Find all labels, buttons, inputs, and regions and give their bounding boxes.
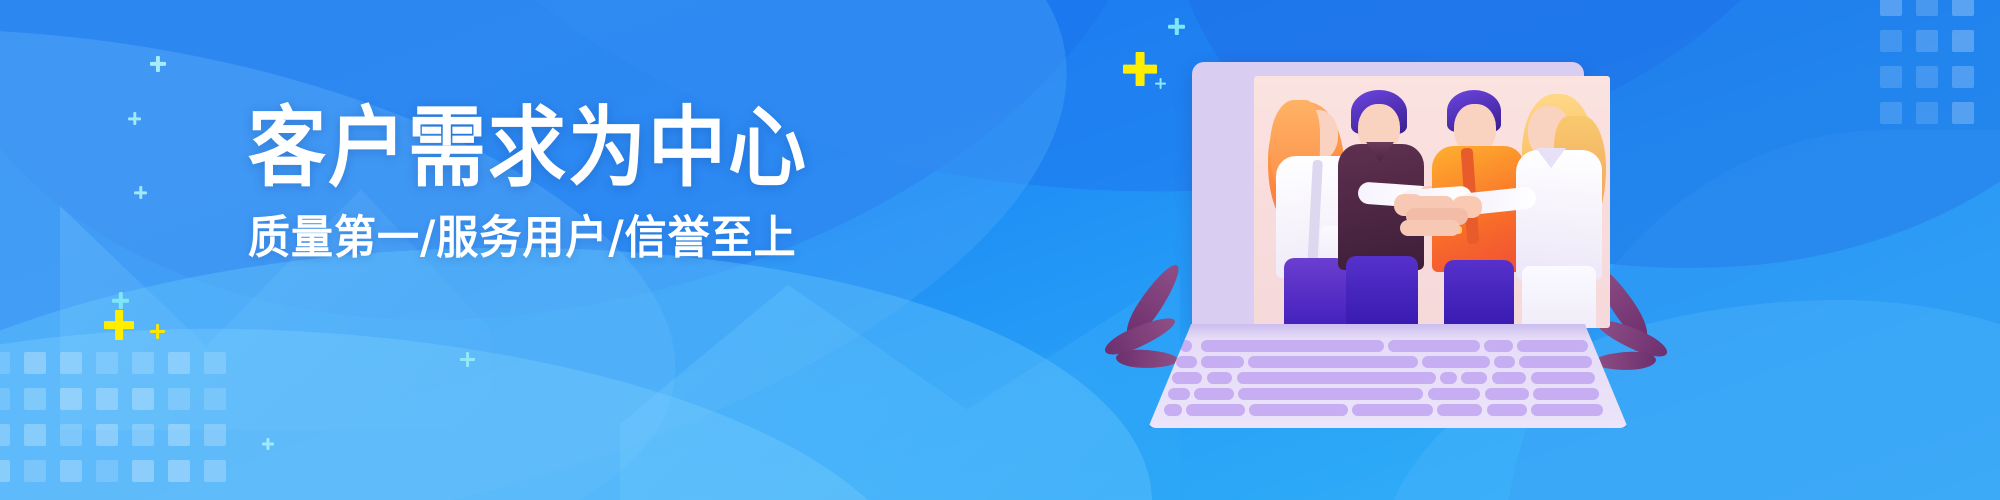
keyboard-key [1492,372,1527,384]
dot-grid-bottom-left-cell [60,388,82,410]
dot-grid-top-right-cell [1952,30,1974,52]
keyboard-key [1176,356,1197,368]
keyboard-key [1237,372,1436,384]
dot-grid-bottom-left-cell [24,388,46,410]
dot-grid-bottom-left-cell [96,424,118,446]
dot-grid-top-right-cell [1952,0,1974,16]
dot-grid-bottom-left-cell [24,424,46,446]
dot-grid-bottom-left-cell [168,424,190,446]
keyboard-key [1494,356,1515,368]
wave-chevron-center [620,250,1180,500]
keyboard-key [1484,340,1513,352]
person-2-pants [1346,256,1418,328]
laptop-teamwork-illustration [1148,62,1628,442]
dot-grid-bottom-left-cell [132,352,154,374]
dot-grid-top-right-cell [1880,102,1902,124]
plus-yellow-small-bottomleft-icon [150,324,165,339]
keyboard-key [1207,372,1233,384]
leaf-left-3 [1116,349,1179,369]
keyboard-key [1533,388,1599,400]
dot-grid-bottom-left-cell [0,352,10,374]
keyboard-key [1180,340,1192,352]
dot-grid-bottom-left-cell [96,460,118,482]
keyboard-key [1517,340,1588,352]
dot-grid-bottom-left-cell [168,460,190,482]
dot-grid-bottom-left-cell [96,388,118,410]
dot-grid-top-right-cell [1952,102,1974,124]
promo-banner: 客户需求为中心 质量第一/服务用户/信誉至上 [0,0,2000,500]
keyboard-key [1428,388,1481,400]
keyboard-key [1248,356,1418,368]
keyboard-key [1531,372,1596,384]
wave-bottom-light-2 [0,307,926,500]
plus-cyan-center-bottom-icon [460,352,475,367]
person-4-skirt [1522,266,1596,328]
dot-grid-bottom-left-cell [96,352,118,374]
keyboard-key [1531,404,1603,416]
keyboard-key [1352,404,1433,416]
dot-grid-bottom-left-cell [60,424,82,446]
keyboard-key [1461,372,1487,384]
dot-grid-top-right-cell [1916,102,1938,124]
plus-yellow-large-bottomleft-icon [104,310,134,340]
dot-grid-bottom-left-cell [204,460,226,482]
plus-cyan-left-upper-icon [150,56,166,72]
dot-grid-top-right [1880,0,2000,114]
dot-grid-top-right-cell [1880,66,1902,88]
person-3-pants [1444,260,1514,328]
dot-grid-top-right-cell [1880,0,1902,16]
banner-text-block: 客户需求为中心 质量第一/服务用户/信誉至上 [248,104,808,258]
dot-grid-bottom-left-cell [24,352,46,374]
keyboard-key [1201,340,1384,352]
dot-grid-top-right-cell [1916,0,1938,16]
keyboard-key [1168,388,1190,400]
dot-grid-bottom-left-cell [24,460,46,482]
plus-cyan-left-lower-icon [134,186,147,199]
dot-grid-bottom-left-cell [168,352,190,374]
keyboard-key [1487,404,1527,416]
plus-cyan-left-mid-icon [128,112,141,125]
dot-grid-bottom-left-cell [132,424,154,446]
dot-grid-bottom-left-cell [0,460,10,482]
keyboard-key [1388,340,1480,352]
keyboard-key [1186,404,1244,416]
keyboard-key [1249,404,1348,416]
keyboard-key [1440,372,1457,384]
plus-cyan-far-bottom-icon [262,438,274,450]
dot-grid-bottom-left-cell [204,388,226,410]
keyboard-key [1238,388,1423,400]
dot-grid-bottom-left-cell [204,352,226,374]
keyboard-key [1437,404,1482,416]
dot-grid-bottom-left-cell [132,388,154,410]
person-4-top [1516,150,1602,280]
dot-grid-top-right-cell [1880,30,1902,52]
dot-grid-top-right-cell [1952,66,1974,88]
dot-grid-bottom-left-cell [168,388,190,410]
dot-grid-bottom-left-cell [60,460,82,482]
dot-grid-bottom-left-cell [204,424,226,446]
keyboard-key [1519,356,1591,368]
laptop-screen [1254,76,1610,328]
keyboard-key [1164,404,1182,416]
dot-grid-bottom-left-cell [0,388,10,410]
subtitle: 质量第一/服务用户/信誉至上 [248,214,808,262]
keyboard-key [1422,356,1490,368]
keyboard-key [1201,356,1243,368]
laptop-lid [1192,62,1584,330]
laptop-keyboard-base [1148,324,1628,428]
keyboard-key [1172,372,1202,384]
dot-grid-bottom-left-cell [0,424,10,446]
dot-grid-top-right-cell [1916,66,1938,88]
headline: 客户需求为中心 [248,104,808,194]
plus-cyan-small-top-icon [1168,18,1185,35]
dot-grid-top-right-cell [1916,30,1938,52]
hand-3 [1400,220,1460,236]
dot-grid-bottom-left-cell [60,352,82,374]
hand-stack [1394,194,1486,242]
keyboard-key [1194,388,1234,400]
keyboard-key [1485,388,1529,400]
dot-grid-bottom-left [0,352,248,500]
plus-cyan-bottomleft-icon [112,292,129,309]
person-1-pants [1284,258,1346,328]
dot-grid-bottom-left-cell [132,460,154,482]
